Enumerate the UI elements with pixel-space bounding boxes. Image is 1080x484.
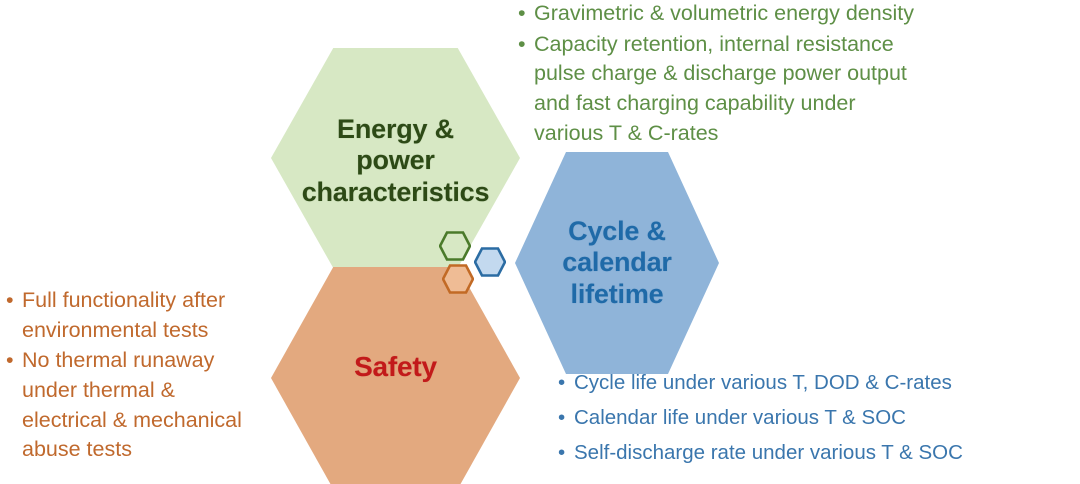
hexagon-energy-power[interactable]: Energy & power characteristics [271, 48, 520, 268]
list-item: Self-discharge rate under various T & SO… [556, 436, 1076, 470]
list-item: Gravimetric & volumetric energy density [516, 0, 1076, 29]
hexagon-cycle-calendar-lifetime-label: Cycle & calendar lifetime [562, 216, 671, 311]
hexagon-outline-icon-blue [474, 247, 506, 277]
hexagon-outline-icon-green [439, 231, 471, 261]
hexagon-energy-power-label: Energy & power characteristics [302, 114, 490, 209]
list-item: Capacity retention, internal resistance … [516, 30, 1076, 149]
list-item: No thermal runaway under thermal & elect… [4, 346, 304, 465]
hexagon-safety-label: Safety [354, 351, 437, 384]
hexagon-outline-icon-orange [442, 264, 474, 294]
bullet-list-cycle-lifetime: Cycle life under various T, DOD & C-rate… [556, 366, 1076, 471]
bullet-list-safety: Full functionality after environmental t… [4, 286, 304, 466]
diagram-canvas: Energy & power characteristics Cycle & c… [0, 0, 1080, 484]
list-item: Cycle life under various T, DOD & C-rate… [556, 366, 1076, 400]
hexagon-cycle-calendar-lifetime[interactable]: Cycle & calendar lifetime [515, 152, 719, 374]
list-item: Calendar life under various T & SOC [556, 401, 1076, 435]
hexagon-safety[interactable]: Safety [271, 267, 520, 484]
bullet-list-energy-power: Gravimetric & volumetric energy density … [516, 0, 1076, 149]
list-item: Full functionality after environmental t… [4, 286, 304, 345]
